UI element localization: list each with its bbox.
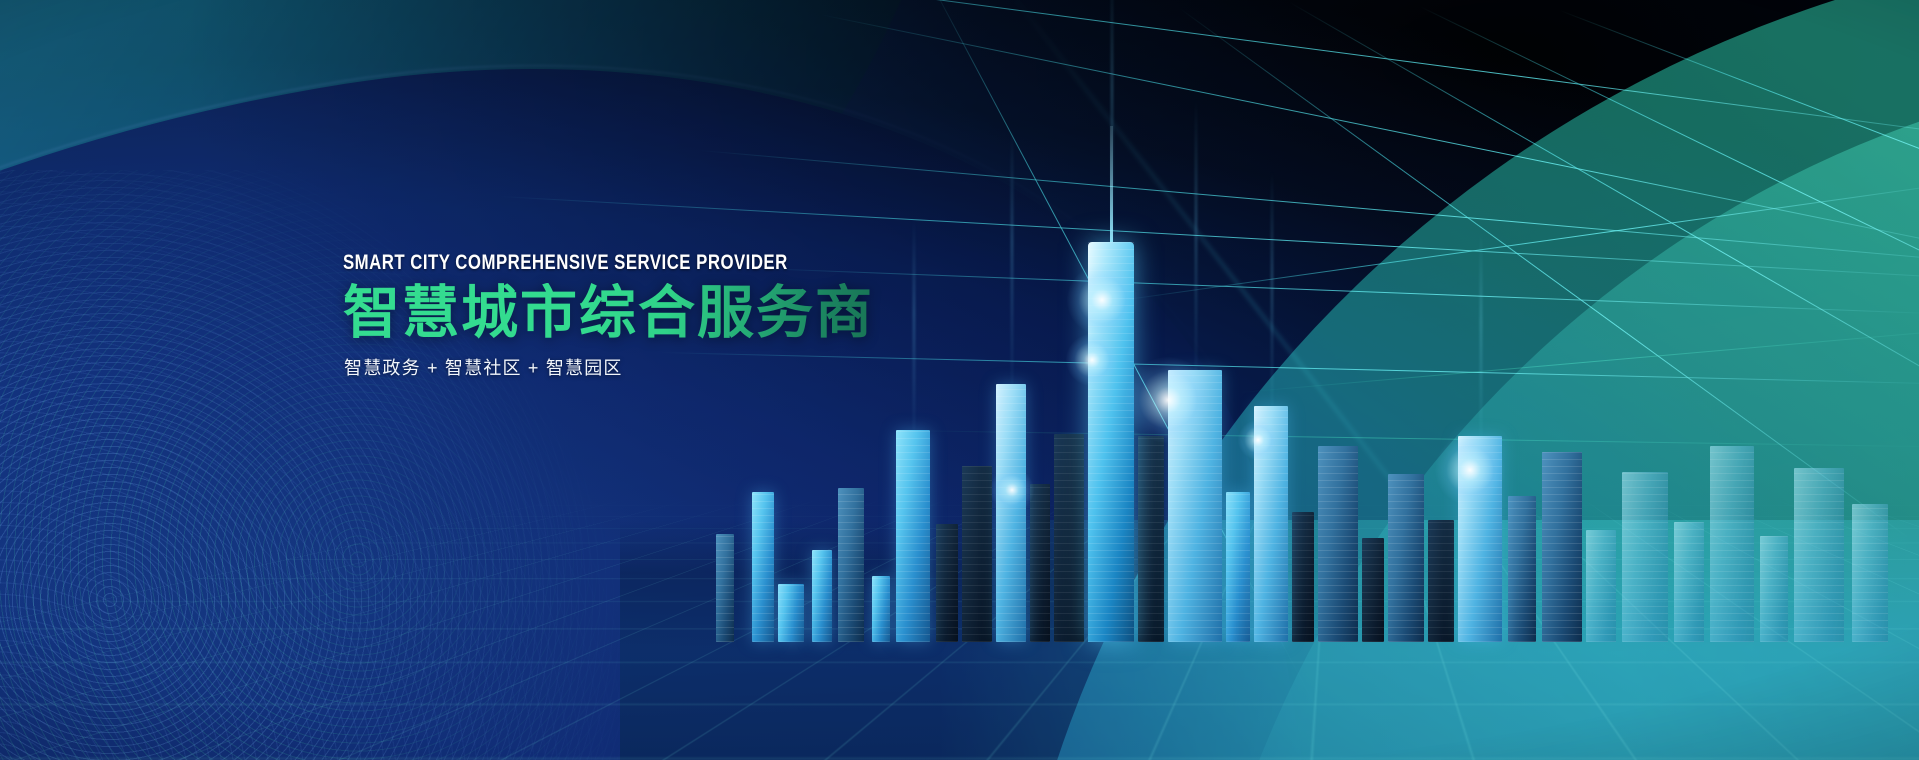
building-3 (812, 550, 832, 642)
building-13 (1138, 436, 1164, 642)
building-31 (1852, 504, 1888, 642)
building-16 (1254, 406, 1288, 642)
building-11 (1054, 434, 1084, 642)
building-25 (1586, 530, 1616, 642)
hero-subline-services: 智慧政务 + 智慧社区 + 智慧园区 (344, 359, 899, 377)
building-28 (1710, 446, 1754, 642)
building-22 (1458, 436, 1502, 642)
building-5 (872, 576, 890, 642)
smart-city-hero-banner: SMART CITY COMPREHENSIVE SERVICE PROVIDE… (0, 0, 1919, 760)
building-7 (936, 524, 958, 642)
building-light-beam-14 (1195, 98, 1197, 370)
building-light-beam-16 (1271, 170, 1273, 406)
hero-copy-block: SMART CITY COMPREHENSIVE SERVICE PROVIDE… (343, 252, 899, 377)
building-4 (838, 488, 864, 642)
building-light-beam-9 (1011, 126, 1013, 384)
hero-eyebrow-english: SMART CITY COMPREHENSIVE SERVICE PROVIDE… (343, 252, 788, 273)
tower-spire (1110, 126, 1113, 242)
building-8 (962, 466, 992, 642)
building-0 (716, 534, 734, 642)
building-1 (752, 492, 774, 642)
building-18 (1318, 446, 1358, 642)
hero-headline-chinese: 智慧城市综合服务商 (343, 283, 899, 345)
building-27 (1674, 522, 1704, 642)
building-23 (1508, 496, 1536, 642)
building-21 (1428, 520, 1454, 642)
building-light-beam-6 (913, 218, 915, 430)
building-14 (1168, 370, 1222, 642)
building-2 (778, 584, 804, 642)
building-12 (1088, 242, 1134, 642)
building-9 (996, 384, 1026, 642)
building-6 (896, 430, 930, 642)
building-29 (1760, 536, 1788, 642)
building-10 (1030, 484, 1050, 642)
building-26 (1622, 472, 1668, 642)
building-24 (1542, 452, 1582, 642)
building-30 (1794, 468, 1844, 642)
building-20 (1388, 474, 1424, 642)
building-17 (1292, 512, 1314, 642)
building-15 (1226, 492, 1250, 642)
building-19 (1362, 538, 1384, 642)
